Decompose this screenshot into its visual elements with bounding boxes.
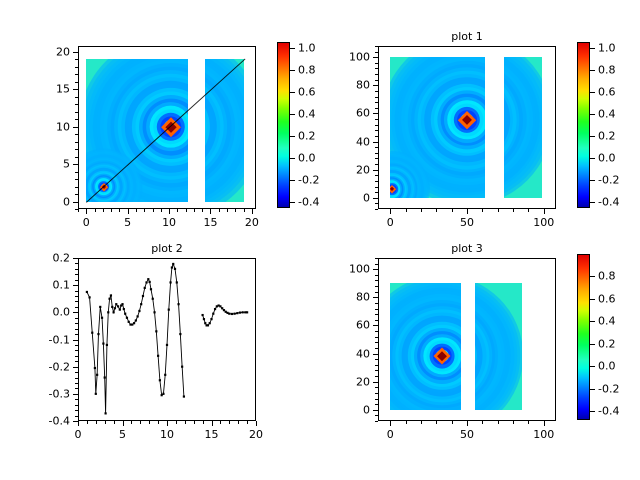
panel-3-ripple bbox=[390, 290, 461, 409]
panel-3-peak-core bbox=[434, 347, 451, 364]
panel-3-ripple bbox=[390, 283, 461, 410]
panel-3-ripple bbox=[421, 334, 461, 378]
panel-3-xtick-minor bbox=[482, 421, 483, 424]
panel-3-xtick-minor bbox=[528, 421, 529, 424]
panel-3-ytick-minor bbox=[375, 393, 378, 394]
panel-3-xticklabel: 0 bbox=[387, 429, 394, 440]
panel-3-ripple bbox=[430, 343, 455, 368]
panel-3-yticklabel: 80 bbox=[338, 292, 370, 303]
panel-3-yticklabel: 40 bbox=[338, 348, 370, 359]
panel-3-ripple bbox=[399, 312, 461, 399]
panel-3-colorbar-tick bbox=[590, 389, 595, 390]
panel-3-xtick-minor bbox=[452, 421, 453, 424]
panel-3-ytick-minor bbox=[375, 387, 378, 388]
panel-3-ytick-major bbox=[373, 325, 378, 326]
panel-3-ytick-minor bbox=[375, 399, 378, 400]
panel-3-colorbar-tick bbox=[590, 276, 595, 277]
panel-3-ripple bbox=[390, 297, 461, 410]
panel-3-xtick-major bbox=[467, 421, 468, 426]
panel-3-ripple bbox=[475, 290, 508, 409]
panel-3-ripple bbox=[418, 331, 461, 381]
panel-3-ripple bbox=[390, 300, 461, 410]
figure-canvas: 05101520051015201.00.80.60.40.20.0-0.2-0… bbox=[0, 0, 640, 480]
panel-3-colorbar-ticklabel: 0.8 bbox=[598, 271, 616, 282]
panel-3-ytick-minor bbox=[375, 404, 378, 405]
panel-3-ytick-minor bbox=[375, 348, 378, 349]
panel-3-ripple bbox=[436, 349, 448, 361]
panel-3-xtick-minor bbox=[513, 421, 514, 424]
panel-3-ripple bbox=[396, 309, 461, 402]
panel-3-ytick-minor bbox=[375, 421, 378, 422]
panel-3-ytick-major bbox=[373, 354, 378, 355]
panel-3-ripple bbox=[405, 318, 461, 393]
panel-3-ripple bbox=[390, 283, 461, 410]
panel-3-ytick-major bbox=[373, 297, 378, 298]
panel-3-ytick-minor bbox=[375, 370, 378, 371]
panel-3-colorbar-ticklabel: -0.2 bbox=[598, 383, 619, 394]
panel-3-ytick-minor bbox=[375, 280, 378, 281]
panel-3-ytick-minor bbox=[375, 303, 378, 304]
panel-3-ripple bbox=[393, 306, 461, 406]
panel-3-ripple bbox=[414, 328, 460, 384]
panel-3-yticklabel: 60 bbox=[338, 320, 370, 331]
panel-3-ytick-major bbox=[373, 410, 378, 411]
panel-3-ripple bbox=[411, 325, 461, 387]
panel-3-colorbar-ticklabel: -0.4 bbox=[598, 406, 619, 417]
panel-3-ytick-minor bbox=[375, 337, 378, 338]
panel-3-ripple bbox=[390, 303, 461, 409]
panel-3-xtick-minor bbox=[436, 421, 437, 424]
panel-3-colorbar-ticklabel: 0.4 bbox=[598, 316, 616, 327]
panel-3-ripple bbox=[475, 312, 486, 399]
panel-3-ripple bbox=[475, 306, 493, 406]
panel-3-axes bbox=[378, 258, 556, 421]
panel-3-ripple bbox=[475, 318, 480, 393]
panel-3-ripple bbox=[475, 283, 521, 410]
panel-3-xticklabel: 100 bbox=[533, 429, 554, 440]
panel-3-yticklabel: 100 bbox=[338, 264, 370, 275]
panel-3-ytick-minor bbox=[375, 314, 378, 315]
panel-3-xtick-minor bbox=[421, 421, 422, 424]
bottom-right-image-plot: 050100020406080100plot 30.80.60.40.20.0-… bbox=[0, 0, 640, 480]
panel-3-ripple bbox=[475, 321, 477, 389]
panel-3-ripple bbox=[475, 284, 514, 410]
panel-3-ytick-minor bbox=[375, 331, 378, 332]
panel-3-ytick-minor bbox=[375, 359, 378, 360]
panel-3-ripple bbox=[424, 337, 461, 374]
panel-3-ytick-minor bbox=[375, 264, 378, 265]
panel-3-colorbar-tick bbox=[590, 299, 595, 300]
panel-3-ripple bbox=[475, 297, 502, 410]
panel-3-ripple bbox=[390, 284, 461, 410]
panel-3-ripple bbox=[402, 315, 461, 396]
panel-3-title: plot 3 bbox=[451, 243, 483, 255]
panel-3-yticklabel: 0 bbox=[338, 404, 370, 415]
panel-3-ripple bbox=[475, 300, 499, 410]
panel-3-xticklabel: 50 bbox=[460, 429, 474, 440]
panel-3-image-block-0 bbox=[390, 283, 461, 410]
panel-3-colorbar-tick bbox=[590, 411, 595, 412]
panel-3-ripple bbox=[475, 283, 523, 410]
panel-3-ytick-minor bbox=[375, 320, 378, 321]
panel-3-colorbar-ticklabel: 0.2 bbox=[598, 338, 616, 349]
panel-3-yticklabel: 20 bbox=[338, 376, 370, 387]
panel-3-xtick-major bbox=[390, 421, 391, 426]
panel-3-ytick-minor bbox=[375, 286, 378, 287]
panel-3-xtick-major bbox=[544, 421, 545, 426]
panel-3-ytick-minor bbox=[375, 342, 378, 343]
panel-3-ripple bbox=[390, 293, 461, 409]
panel-3-colorbar-tick bbox=[590, 344, 595, 345]
panel-3-colorbar-tick bbox=[590, 366, 595, 367]
panel-3-ytick-minor bbox=[375, 275, 378, 276]
panel-3-ytick-minor bbox=[375, 415, 378, 416]
panel-3-ytick-minor bbox=[375, 292, 378, 293]
panel-3-ripple bbox=[475, 309, 489, 402]
panel-3-ytick-minor bbox=[375, 309, 378, 310]
panel-3-image-block-1 bbox=[475, 283, 523, 410]
panel-3-ripple bbox=[427, 340, 458, 371]
panel-3-peak-core-inner bbox=[438, 351, 448, 361]
panel-3-ripple bbox=[439, 353, 445, 359]
panel-3-ripple bbox=[390, 287, 461, 410]
panel-3-xtick-minor bbox=[498, 421, 499, 424]
panel-3-ripple bbox=[475, 283, 517, 410]
panel-3-ripple bbox=[433, 346, 452, 365]
panel-3-ytick-minor bbox=[375, 365, 378, 366]
panel-3-ripple bbox=[475, 287, 511, 410]
panel-3-ripple bbox=[390, 283, 461, 410]
panel-3-colorbar bbox=[577, 254, 590, 420]
panel-3-ytick-major bbox=[373, 269, 378, 270]
panel-3-xtick-minor bbox=[406, 421, 407, 424]
panel-3-ytick-minor bbox=[375, 376, 378, 377]
panel-3-ripple bbox=[475, 293, 505, 409]
panel-3-ripple bbox=[475, 303, 496, 409]
panel-3-ytick-minor bbox=[375, 258, 378, 259]
panel-3-colorbar-ticklabel: 0.0 bbox=[598, 361, 616, 372]
panel-3-colorbar-ticklabel: 0.6 bbox=[598, 293, 616, 304]
panel-3-ripple bbox=[475, 315, 483, 396]
panel-3-ripple bbox=[408, 321, 461, 389]
panel-3-colorbar-tick bbox=[590, 321, 595, 322]
panel-3-ytick-major bbox=[373, 382, 378, 383]
